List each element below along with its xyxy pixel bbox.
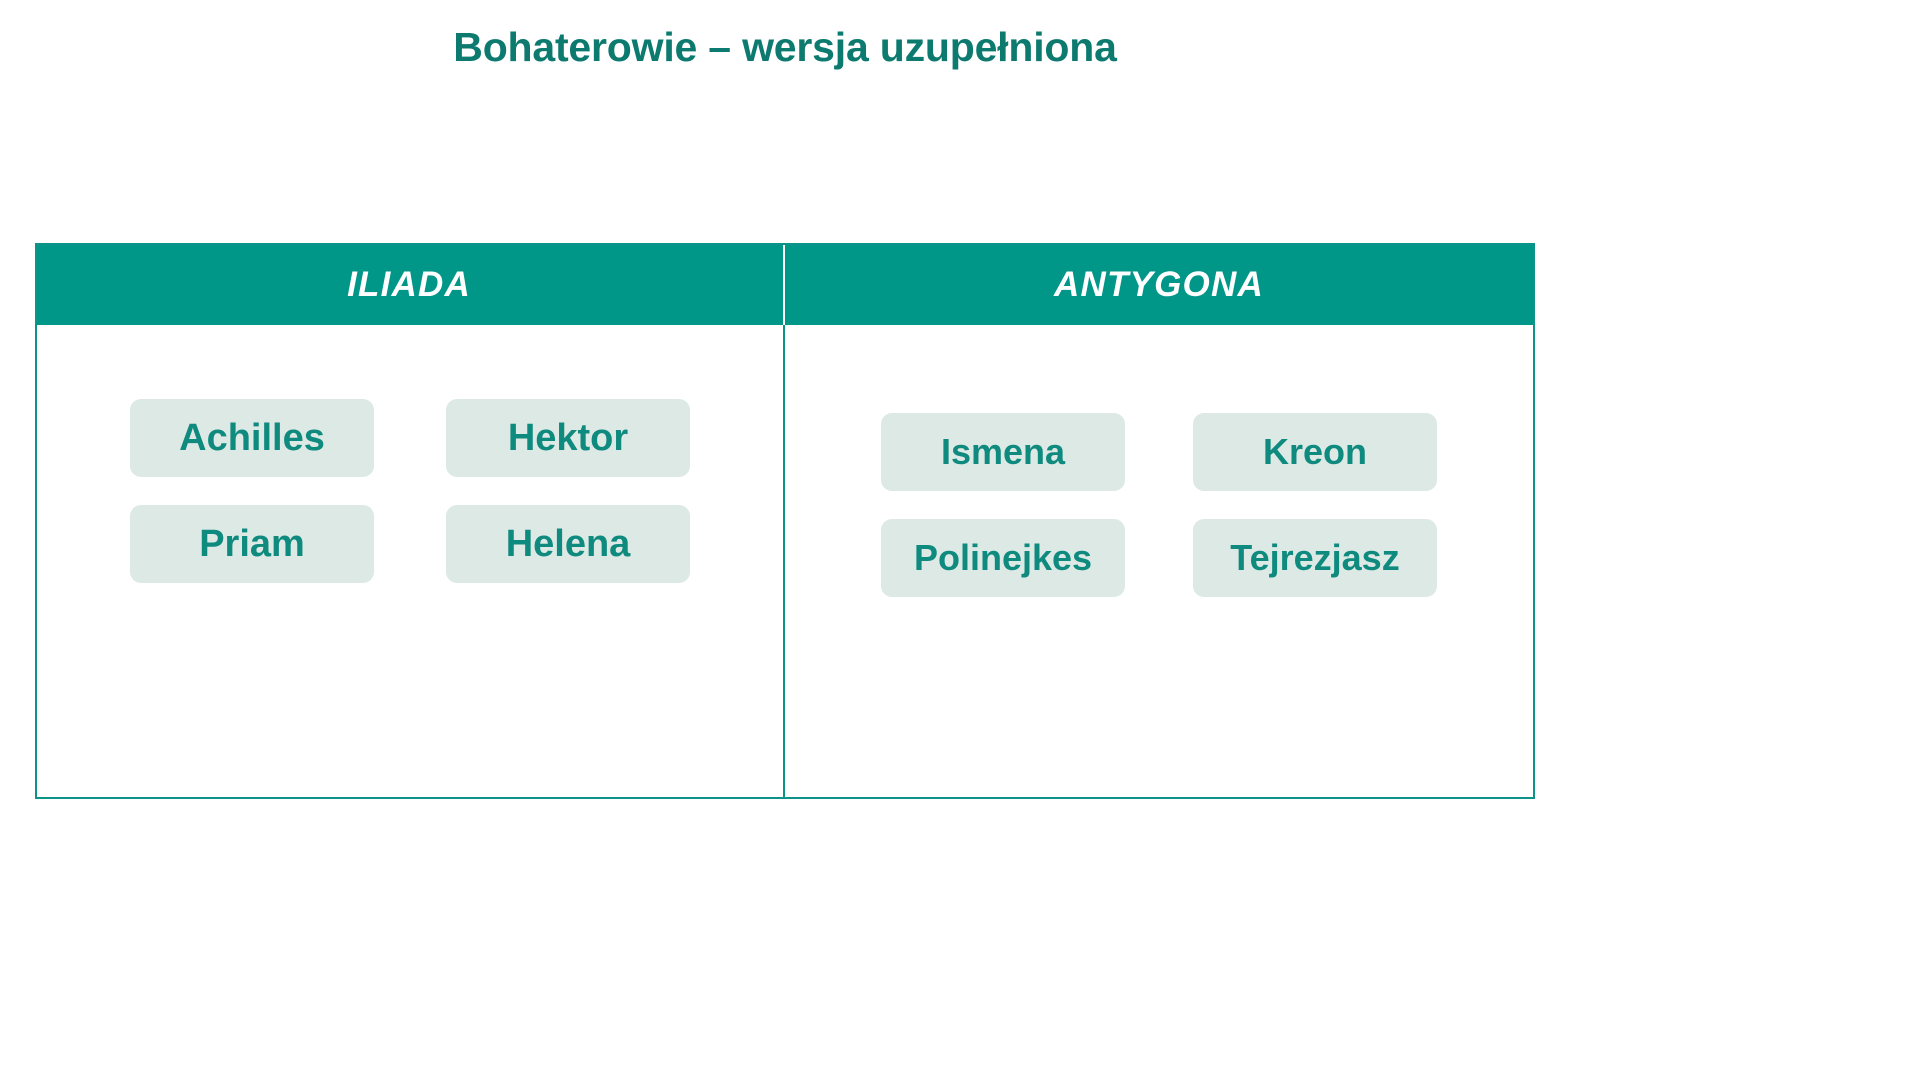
- pill-label: Achilles: [179, 417, 325, 460]
- pill-grid-antygona: Ismena Kreon Polinejkes Tejrezjasz: [785, 325, 1533, 597]
- column-header-antygona: ANTYGONA: [785, 245, 1533, 325]
- column-body-antygona: Ismena Kreon Polinejkes Tejrezjasz: [785, 325, 1533, 797]
- page-title: Bohaterowie – wersja uzupełniona: [0, 24, 1570, 71]
- table-body-row: Achilles Hektor Priam Helena Ismena: [37, 325, 1533, 797]
- pill-item[interactable]: Tejrezjasz: [1193, 519, 1437, 597]
- pill-item[interactable]: Priam: [130, 505, 374, 583]
- pill-item[interactable]: Kreon: [1193, 413, 1437, 491]
- pill-label: Hektor: [508, 417, 628, 460]
- pill-grid-iliada: Achilles Hektor Priam Helena: [37, 325, 783, 583]
- pill-item[interactable]: Polinejkes: [881, 519, 1125, 597]
- pill-item[interactable]: Helena: [446, 505, 690, 583]
- pill-item[interactable]: Ismena: [881, 413, 1125, 491]
- pill-label: Tejrezjasz: [1230, 537, 1399, 579]
- pill-label: Priam: [199, 523, 305, 566]
- pill-item[interactable]: Achilles: [130, 399, 374, 477]
- column-header-label: ANTYGONA: [1054, 265, 1264, 305]
- pill-label: Ismena: [941, 431, 1065, 473]
- column-header-iliada: ILIADA: [37, 245, 785, 325]
- pill-item[interactable]: Hektor: [446, 399, 690, 477]
- column-body-iliada: Achilles Hektor Priam Helena: [37, 325, 785, 797]
- pill-label: Helena: [506, 523, 631, 566]
- column-header-label: ILIADA: [347, 265, 471, 305]
- table-header-row: ILIADA ANTYGONA: [37, 245, 1533, 325]
- pill-label: Kreon: [1263, 431, 1367, 473]
- pill-label: Polinejkes: [914, 537, 1092, 579]
- comparison-table: ILIADA ANTYGONA Achilles Hektor Priam He…: [35, 243, 1535, 799]
